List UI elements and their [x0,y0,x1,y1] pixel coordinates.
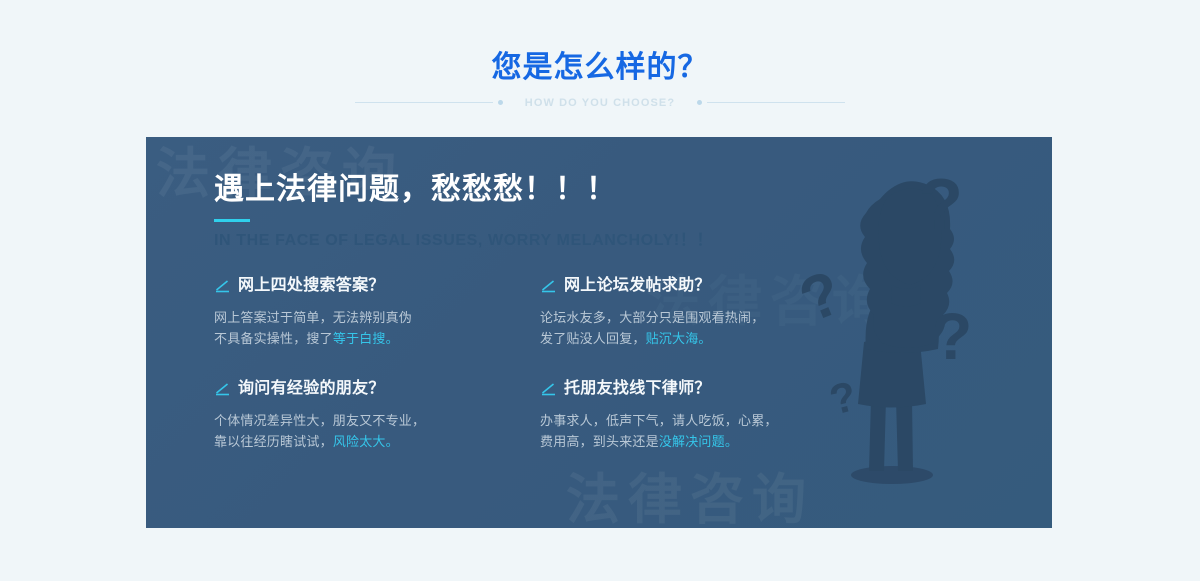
item-title-row: 询问有经验的朋友？ [214,378,540,400]
item-title-text: 询问有经验的朋友？ [238,378,385,400]
item-description: 论坛水友多，大部分只是围观看热闹， 发了贴没人回复，贴沉大海。 [540,307,866,349]
item-title-row: 网上四处搜索答案？ [214,275,540,297]
item-desc-plain: 靠以往经历瞎试试， [214,434,333,449]
item-desc-line-2: 费用高，到头来还是没解决问题。 [540,431,866,452]
problem-list: 网上四处搜索答案？ 网上答案过于简单，无法辨别真伪 不具备实操性，搜了等于白搜。… [214,275,874,452]
section-header: 您是怎么样的？ HOW DO YOU CHOOSE? [0,0,1200,137]
page-title: 您是怎么样的？ [0,49,1200,87]
item-desc-highlight: 风险太大。 [333,434,399,449]
item-title-row: 托朋友找线下律师？ [540,378,866,400]
arrow-diagonal-icon [214,279,231,295]
list-item[interactable]: 询问有经验的朋友？ 个体情况差异性大，朋友又不专业， 靠以往经历瞎试试，风险太大… [214,378,540,452]
item-desc-plain: 不具备实操性，搜了 [214,331,333,346]
item-desc-line-2: 不具备实操性，搜了等于白搜。 [214,328,540,349]
accent-underline [214,219,250,222]
item-desc-highlight: 贴沉大海。 [646,331,712,346]
item-desc-line-1: 网上答案过于简单，无法辨别真伪 [214,307,540,328]
item-title-text: 网上论坛发帖求助？ [564,275,711,297]
decorative-line-left [355,93,503,113]
item-description: 网上答案过于简单，无法辨别真伪 不具备实操性，搜了等于白搜。 [214,307,540,349]
item-desc-plain: 费用高，到头来还是 [540,434,659,449]
item-desc-highlight: 等于白搜。 [333,331,399,346]
arrow-diagonal-icon [540,279,557,295]
item-description: 办事求人，低声下气，请人吃饭，心累， 费用高，到头来还是没解决问题。 [540,410,866,452]
item-desc-line-2: 发了贴没人回复，贴沉大海。 [540,328,866,349]
arrow-diagonal-icon [540,382,557,398]
item-description: 个体情况差异性大，朋友又不专业， 靠以往经历瞎试试，风险太大。 [214,410,540,452]
list-item[interactable]: 网上论坛发帖求助？ 论坛水友多，大部分只是围观看热闹， 发了贴没人回复，贴沉大海… [540,275,866,349]
item-desc-line-1: 办事求人，低声下气，请人吃饭，心累， [540,410,866,431]
panel-heading: 遇上法律问题，愁愁愁！！！ [214,172,1052,208]
item-desc-line-1: 个体情况差异性大，朋友又不专业， [214,410,540,431]
list-item[interactable]: 网上四处搜索答案？ 网上答案过于简单，无法辨别真伪 不具备实操性，搜了等于白搜。 [214,275,540,349]
item-desc-plain: 发了贴没人回复， [540,331,646,346]
arrow-diagonal-icon [214,382,231,398]
panel-subheading: IN THE FACE OF LEGAL ISSUES, WORRY MELAN… [214,231,1052,251]
item-title-row: 网上论坛发帖求助？ [540,275,866,297]
page-subtitle: HOW DO YOU CHOOSE? [503,97,697,109]
item-title-text: 托朋友找线下律师？ [564,378,711,400]
item-title-text: 网上四处搜索答案？ [238,275,385,297]
decorative-line-right [697,93,845,113]
item-desc-line-1: 论坛水友多，大部分只是围观看热闹， [540,307,866,328]
list-item[interactable]: 托朋友找线下律师？ 办事求人，低声下气，请人吃饭，心累， 费用高，到头来还是没解… [540,378,866,452]
subtitle-row: HOW DO YOU CHOOSE? [0,93,1200,113]
item-desc-line-2: 靠以往经历瞎试试，风险太大。 [214,431,540,452]
content-panel: 法律咨询 法律咨询 法律咨询 遇上法律问题，愁愁愁！！！ IN THE FACE… [146,137,1052,528]
item-desc-highlight: 没解决问题。 [659,434,738,449]
